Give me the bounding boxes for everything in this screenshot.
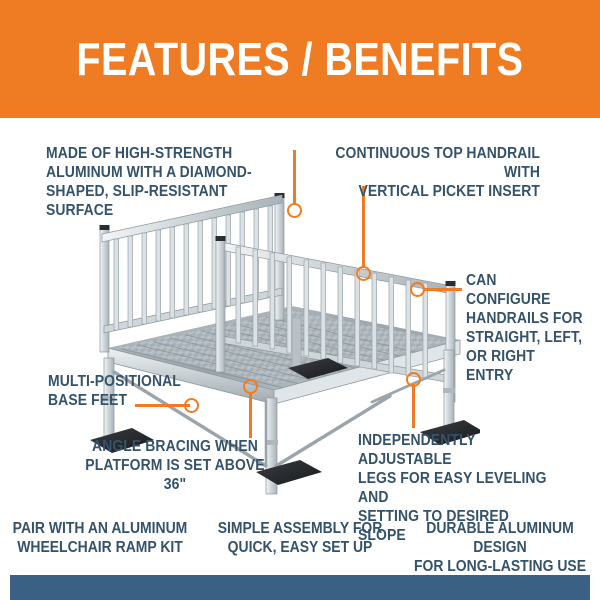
footer-item-durability: DURABLE ALUMINUM DESIGN FOR LONG-LASTING…: [410, 520, 590, 577]
callout-base-feet: MULTI-POSITIONAL BASE FEET: [48, 373, 183, 411]
footer-bar: [10, 575, 590, 600]
connector-legs-vertical: [412, 384, 415, 428]
callout-marker-legs: [406, 372, 421, 387]
callout-marker-configure: [410, 282, 425, 297]
connector-bracing-vertical: [249, 392, 252, 438]
infographic-root: FEATURES / BENEFITS: [0, 0, 600, 600]
footer-benefits-row: PAIR WITH AN ALUMINUM WHEELCHAIR RAMP KI…: [0, 520, 600, 572]
callout-material: MADE OF HIGH-STRENGTH ALUMINUM WITH A DI…: [46, 145, 271, 221]
connector-material-vertical: [293, 150, 296, 205]
callout-configure: CAN CONFIGURE HANDRAILS FOR STRAIGHT, LE…: [466, 272, 583, 385]
callout-marker-handrail: [356, 266, 371, 281]
footer-item-assembly: SIMPLE ASSEMBLY FOR QUICK, EASY SET UP: [210, 520, 390, 558]
callout-angle-bracing: ANGLE BRACING WHEN PLATFORM IS SET ABOVE…: [81, 438, 270, 495]
header-banner: FEATURES / BENEFITS: [0, 0, 600, 118]
page-title: FEATURES / BENEFITS: [76, 36, 523, 82]
connector-configure-horizontal: [424, 288, 462, 291]
callout-marker-basefeet: [184, 398, 199, 413]
callout-marker-bracing: [243, 379, 258, 394]
callout-handrail: CONTINUOUS TOP HANDRAIL WITH VERTICAL PI…: [313, 145, 540, 202]
footer-item-ramp-kit: PAIR WITH AN ALUMINUM WHEELCHAIR RAMP KI…: [10, 520, 190, 558]
callout-marker-material: [287, 203, 302, 218]
